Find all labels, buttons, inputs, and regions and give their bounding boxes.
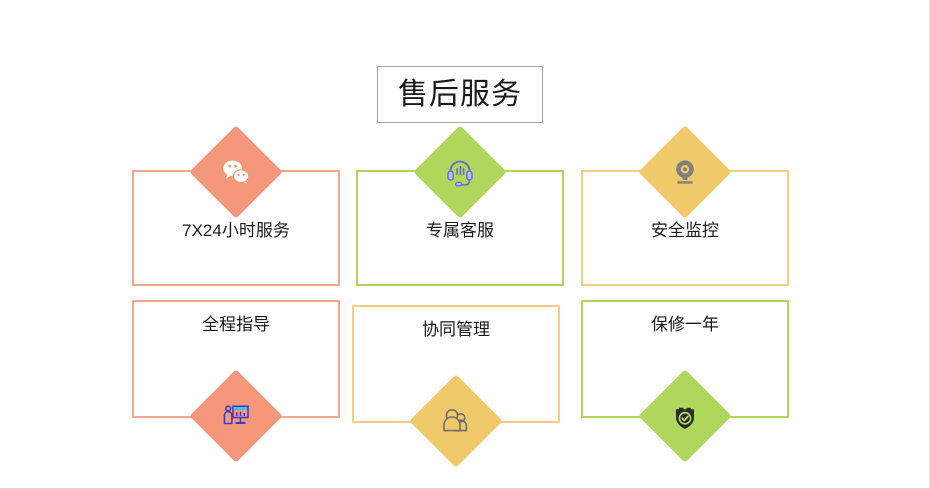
- page-title: 售后服务: [398, 80, 522, 110]
- card-7x24[interactable]: 7X24小时服务: [132, 170, 340, 286]
- presentation-training-diamond: [189, 369, 282, 462]
- card-security-monitoring[interactable]: 安全监控: [581, 170, 789, 286]
- card-label: 保修一年: [583, 316, 787, 333]
- wechat-chat-bubbles-diamond: [189, 125, 282, 218]
- card-label: 专属客服: [358, 222, 562, 239]
- webcam-icon: [665, 152, 705, 192]
- card-collaborative-management[interactable]: 协同管理: [352, 305, 560, 423]
- card-full-guidance[interactable]: 全程指导: [132, 300, 340, 418]
- two-people-group-icon: [436, 401, 476, 441]
- slide-canvas: 售后服务 7X24小时服务: [0, 0, 930, 489]
- webcam-diamond: [638, 125, 731, 218]
- wechat-chat-bubbles-icon: [216, 152, 256, 192]
- card-dedicated-service[interactable]: 专属客服: [356, 170, 564, 286]
- card-label: 7X24小时服务: [134, 222, 338, 239]
- headset-diamond: [413, 125, 506, 218]
- card-label: 安全监控: [583, 222, 787, 239]
- shield-check-diamond: [638, 369, 731, 462]
- card-label: 全程指导: [134, 316, 338, 333]
- headset-icon: [440, 152, 480, 192]
- slide-title-box[interactable]: 售后服务: [377, 66, 543, 123]
- presentation-training-icon: [216, 396, 256, 436]
- shield-check-icon: [665, 396, 705, 436]
- card-one-year-warranty[interactable]: 保修一年: [581, 300, 789, 418]
- card-label: 协同管理: [354, 321, 558, 338]
